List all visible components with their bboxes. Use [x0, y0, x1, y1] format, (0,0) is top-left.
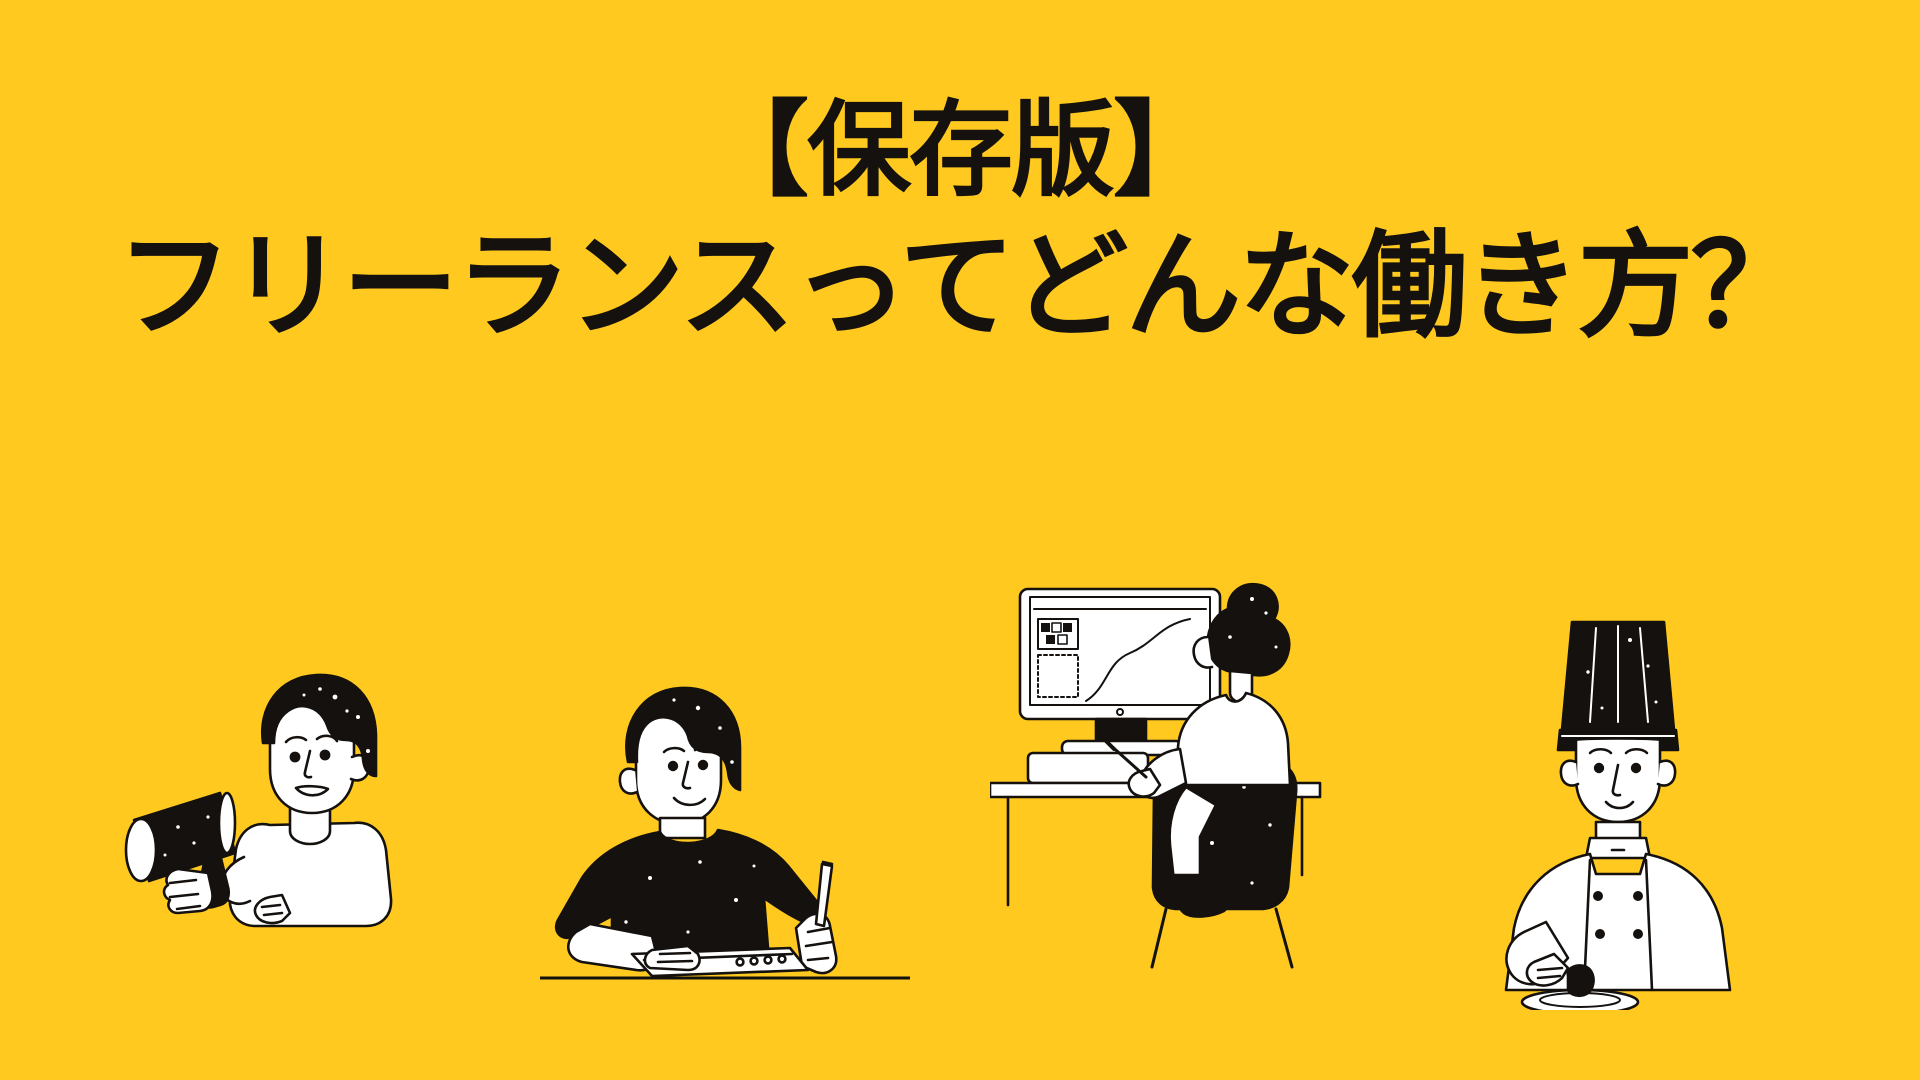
title-block: 【保存版】 フリーランスってどんな働き方？: [0, 0, 1920, 430]
writer-eye-left: [668, 761, 678, 771]
illustration-designer-at-computer: [990, 575, 1410, 975]
writer-person-graphic: [540, 670, 910, 1000]
writer-neck: [660, 818, 705, 838]
writer-pencil: [816, 864, 832, 926]
poster-canvas: 【保存版】 フリーランスってどんな働き方？: [0, 0, 1920, 1080]
chair-leg-right: [1276, 909, 1292, 967]
chef-graphic: [1480, 610, 1780, 1010]
writer-hand-left: [645, 946, 700, 970]
title-line-1: 【保存版】: [705, 96, 1215, 205]
chef-eye-left: [1594, 763, 1604, 773]
illustration-person-writing-notes: [540, 670, 910, 1000]
chair-leg-left: [1152, 909, 1166, 967]
illustration-chef-plating-dish: [1480, 610, 1780, 1010]
megaphone-back-rim: [219, 793, 235, 853]
illustration-row: [0, 430, 1920, 1080]
chef-ear-right: [1658, 761, 1675, 786]
designer-graphic: [990, 575, 1410, 975]
writer-ear: [620, 769, 637, 794]
monitor-power-led: [1117, 709, 1123, 715]
megaphone-person-graphic: [120, 645, 450, 935]
megaphone-person-eye-left: [290, 752, 301, 763]
monitor-layer-panel: [1038, 655, 1078, 697]
chef-collar: [1586, 838, 1650, 858]
writer-eye-right: [698, 760, 708, 770]
title-line-2: フリーランスってどんな働き方？: [117, 223, 1804, 351]
chef-plated-food: [1568, 965, 1594, 995]
megaphone-mouth-opening: [126, 819, 156, 881]
illustration-person-with-megaphone: [120, 645, 450, 935]
chef-ear-left: [1561, 761, 1578, 786]
chef-eye-right: [1631, 763, 1641, 773]
chef-face: [1576, 739, 1660, 823]
megaphone-person-eye-right: [320, 750, 331, 761]
designer-shoe-right: [1179, 885, 1232, 917]
monitor-stand-neck: [1096, 719, 1146, 741]
